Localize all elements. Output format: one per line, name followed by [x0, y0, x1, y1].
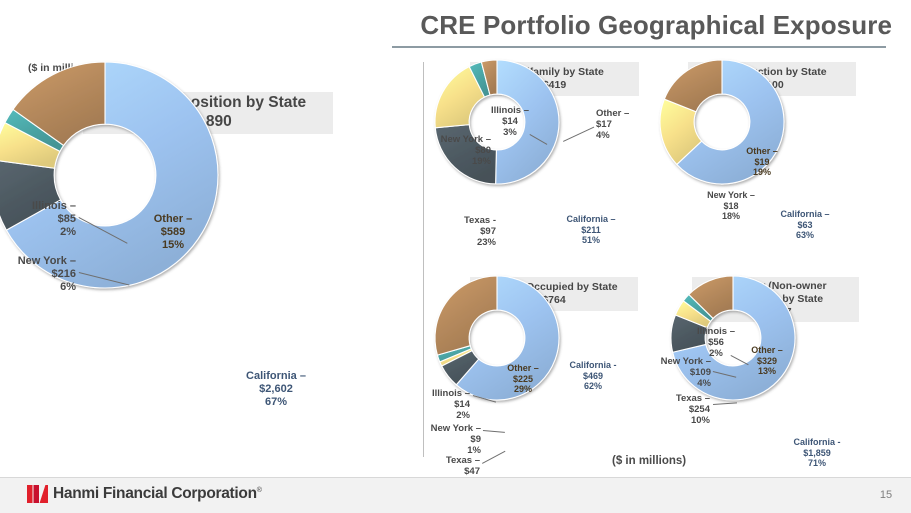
leader-line-oo-texas — [482, 451, 505, 464]
leader-line-mf-other — [563, 127, 594, 142]
label-mf-other: Other – $17 4% — [596, 108, 640, 142]
label-mf-illinois: Illinois – $14 3% — [487, 105, 533, 139]
label-cre-illinois: Illinois – $85 2% — [8, 200, 76, 239]
label-oo-california: California - $469 62% — [564, 360, 622, 392]
label-cre-texas: Texas – $398 10% — [95, 302, 157, 341]
label-inv-newyork: New York – $109 4% — [657, 356, 711, 390]
label-inv-illinois: Illinois – $56 2% — [693, 326, 739, 360]
label-cre-california: California – $2,602 67% — [236, 370, 316, 409]
label-oo-newyork: New York – $9 1% — [429, 423, 481, 457]
page-number: 15 — [874, 489, 898, 501]
label-con-california: California – $63 63% — [777, 209, 833, 241]
units-note-middle: ($ in millions) — [612, 455, 686, 467]
label-mf-texas: Texas - $97 23% — [456, 215, 496, 249]
page-title: CRE Portfolio Geographical Exposure — [392, 10, 892, 41]
label-mf-newyork: New York – $80 19% — [437, 134, 491, 168]
label-inv-texas: Texas – $254 10% — [662, 393, 710, 427]
trademark-symbol: ® — [257, 487, 262, 494]
label-con-other: Other – $19 19% — [740, 146, 784, 178]
leader-line-oo-newyork — [483, 430, 505, 433]
company-name-text: Hanmi Financial Corporation — [53, 485, 257, 502]
footer-company-name: Hanmi Financial Corporation® — [53, 485, 262, 503]
label-mf-california: California – $211 51% — [560, 214, 622, 246]
title-underline — [392, 46, 886, 48]
label-cre-other: Other – $589 15% — [142, 213, 204, 252]
label-inv-california: California - $1,859 71% — [787, 437, 847, 469]
pie-slice-other — [435, 276, 497, 355]
label-oo-illinois: Illinois – $14 2% — [424, 388, 470, 422]
label-con-newyork: New York – $18 18% — [704, 190, 758, 222]
label-inv-other: Other – $329 13% — [745, 345, 789, 377]
hanmi-logo-icon — [27, 484, 48, 504]
label-cre-newyork: New York – $216 6% — [2, 255, 76, 294]
label-oo-other: Other – $225 29% — [500, 363, 546, 395]
slide-canvas: CRE Portfolio Geographical Exposure ($ i… — [0, 0, 911, 512]
